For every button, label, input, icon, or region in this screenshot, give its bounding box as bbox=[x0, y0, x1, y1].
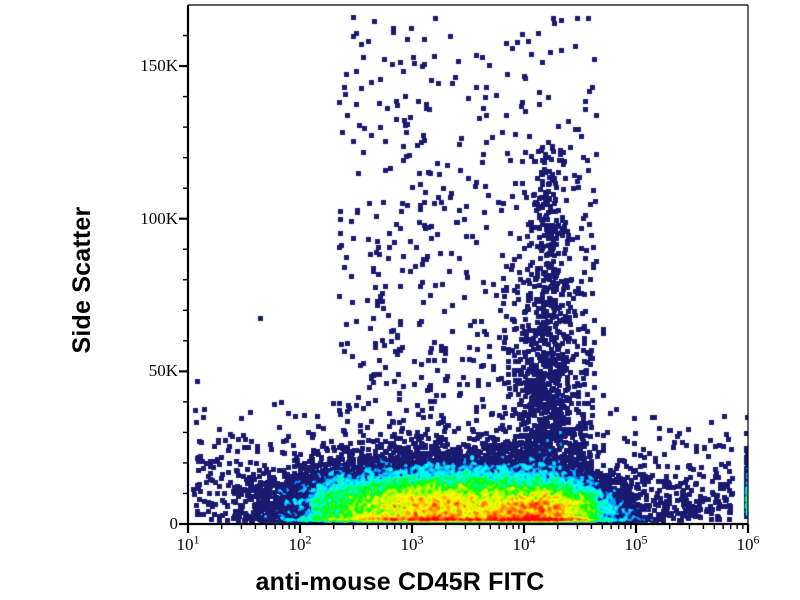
axis-lines bbox=[188, 5, 748, 524]
y-tick-label: 50K bbox=[120, 361, 178, 381]
x-tick-label: 101 bbox=[177, 535, 200, 555]
x-tick-exponent: 6 bbox=[754, 532, 760, 546]
x-tick-label: 102 bbox=[289, 535, 312, 555]
x-tick-label: 105 bbox=[625, 535, 648, 555]
x-tick-mantissa: 10 bbox=[289, 535, 306, 554]
x-axis-title: anti-mouse CD45R FITC bbox=[0, 568, 800, 597]
x-tick-label: 103 bbox=[401, 535, 424, 555]
y-axis-ticks bbox=[179, 36, 188, 524]
x-tick-exponent: 3 bbox=[418, 532, 424, 546]
x-tick-exponent: 1 bbox=[194, 532, 200, 546]
x-tick-mantissa: 10 bbox=[401, 535, 418, 554]
y-axis-title: Side Scatter bbox=[62, 40, 102, 520]
y-tick-label: 100K bbox=[120, 209, 178, 229]
x-tick-label: 104 bbox=[513, 535, 536, 555]
flow-cytometry-figure: 050K100K150K 101102103104105106 Side Sca… bbox=[0, 0, 800, 600]
plot-axes-layer bbox=[0, 0, 800, 600]
x-tick-exponent: 4 bbox=[530, 532, 536, 546]
x-tick-mantissa: 10 bbox=[737, 535, 754, 554]
x-tick-mantissa: 10 bbox=[177, 535, 194, 554]
x-tick-mantissa: 10 bbox=[625, 535, 642, 554]
x-tick-label: 106 bbox=[737, 535, 760, 555]
y-tick-label: 0 bbox=[120, 514, 178, 534]
x-tick-mantissa: 10 bbox=[513, 535, 530, 554]
x-tick-exponent: 2 bbox=[306, 532, 312, 546]
x-axis-ticks bbox=[188, 524, 748, 533]
x-tick-exponent: 5 bbox=[642, 532, 648, 546]
y-tick-label: 150K bbox=[120, 56, 178, 76]
